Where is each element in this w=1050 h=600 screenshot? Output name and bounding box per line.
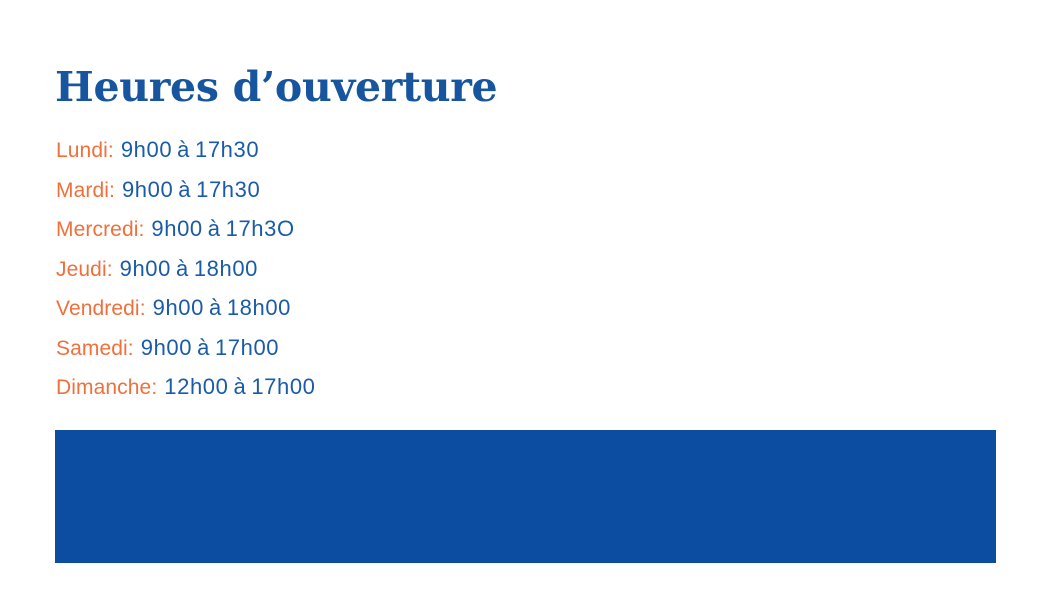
day-label: Dimanche: xyxy=(56,376,157,399)
list-item: Mardi:9h00à17h30 xyxy=(56,170,876,210)
day-label: Vendredi: xyxy=(56,297,146,320)
slide-canvas: Heures d’ouverture Lundi:9h00à17h30 Mard… xyxy=(0,0,1050,600)
open-time: 12h00 xyxy=(164,374,228,399)
time-separator: à xyxy=(176,256,189,281)
day-label: Mercredi: xyxy=(56,218,144,241)
close-time: 17h30 xyxy=(195,137,259,162)
time-separator: à xyxy=(197,335,210,360)
list-item: Samedi:9h00à17h00 xyxy=(56,328,876,368)
list-item: Dimanche:12h00à17h00 xyxy=(56,367,876,407)
time-separator: à xyxy=(233,374,246,399)
close-time: 17h30 xyxy=(196,177,260,202)
time-value: 9h00à17h30 xyxy=(121,137,259,162)
opening-hours-list: Lundi:9h00à17h30 Mardi:9h00à17h30 Mercre… xyxy=(56,130,876,407)
close-time: 17h00 xyxy=(251,374,315,399)
open-time: 9h00 xyxy=(122,177,173,202)
time-separator: à xyxy=(177,137,190,162)
open-time: 9h00 xyxy=(153,295,204,320)
time-separator: à xyxy=(208,216,221,241)
list-item: Lundi:9h00à17h30 xyxy=(56,130,876,170)
time-value: 12h00à17h00 xyxy=(164,374,315,399)
time-value: 9h00à17h00 xyxy=(141,335,279,360)
open-time: 9h00 xyxy=(120,256,171,281)
open-time: 9h00 xyxy=(121,137,172,162)
close-time: 18h00 xyxy=(194,256,258,281)
list-item: Vendredi:9h00à18h00 xyxy=(56,288,876,328)
close-time: 18h00 xyxy=(227,295,291,320)
list-item: Mercredi:9h00à17h3O xyxy=(56,209,876,249)
list-item: Jeudi:9h00à18h00 xyxy=(56,249,876,289)
time-value: 9h00à18h00 xyxy=(153,295,291,320)
blue-banner-block xyxy=(55,430,996,563)
page-title: Heures d’ouverture xyxy=(55,62,497,112)
close-time: 17h3O xyxy=(226,216,295,241)
close-time: 17h00 xyxy=(215,335,279,360)
open-time: 9h00 xyxy=(141,335,192,360)
time-separator: à xyxy=(209,295,222,320)
day-label: Samedi: xyxy=(56,337,134,360)
day-label: Lundi: xyxy=(56,139,114,162)
time-value: 9h00à17h3O xyxy=(151,216,294,241)
time-value: 9h00à18h00 xyxy=(120,256,258,281)
day-label: Mardi: xyxy=(56,179,115,202)
day-label: Jeudi: xyxy=(56,258,113,281)
time-separator: à xyxy=(178,177,191,202)
time-value: 9h00à17h30 xyxy=(122,177,260,202)
open-time: 9h00 xyxy=(151,216,202,241)
